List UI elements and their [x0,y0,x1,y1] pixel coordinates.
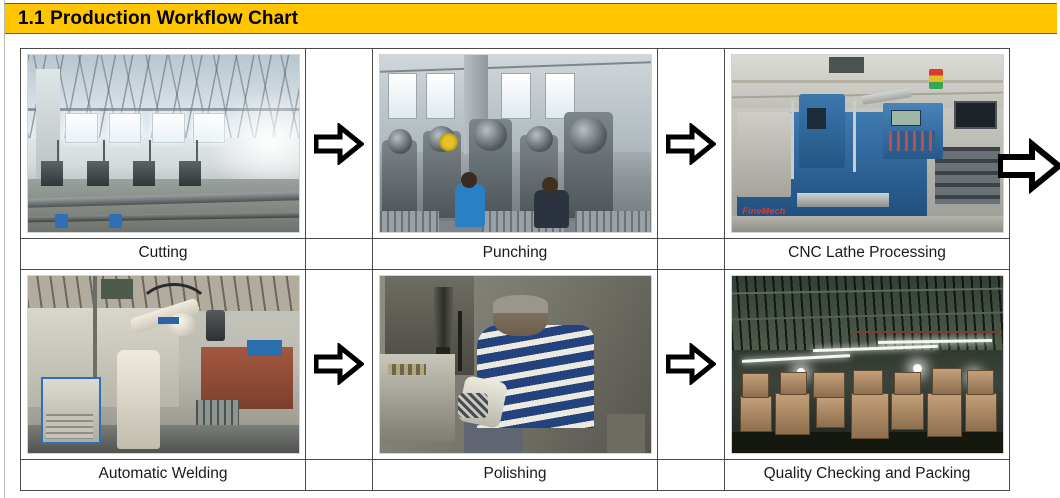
caption-spacer-1 [306,239,373,270]
step-caption-cell-cutting: Cutting [21,239,306,270]
section-header-band: 1.1 Production Workflow Chart [5,3,1057,34]
step-caption-cell-polishing: Polishing [373,459,658,490]
photo-quality-checking-and-packing [731,275,1004,454]
arrow-cell-cnc-to-next [998,138,1060,194]
step-image-cell-punching [373,49,658,239]
cnc-brand-logo: FineMech [742,202,802,216]
caption-spacer-4 [658,459,725,490]
step-caption-cell-welding: Automatic Welding [21,459,306,490]
arrow-cell-polishing-to-quality [658,269,725,459]
photo-cutting [27,54,300,233]
arrow-right-icon [666,343,716,385]
cnc-brand-text: FineMech [742,206,785,216]
arrow-cell-welding-to-polishing [306,269,373,459]
step-label-quality-checking-and-packing: Quality Checking and Packing [725,460,1009,490]
table-row-captions-bottom: Automatic Welding Polishing Quality Chec… [21,459,1010,490]
arrow-cell-cutting-to-punching [306,49,373,239]
step-caption-cell-punching: Punching [373,239,658,270]
step-caption-cell-quality: Quality Checking and Packing [725,459,1010,490]
step-label-punching: Punching [373,239,657,269]
caption-spacer-3 [306,459,373,490]
step-image-cell-cnc: FineMech [725,49,1010,239]
photo-punching [379,54,652,233]
step-image-cell-cutting [21,49,306,239]
step-label-polishing: Polishing [373,460,657,490]
production-workflow-page: 1.1 Production Workflow Chart [0,0,1060,498]
step-label-cnc-lathe-processing: CNC Lathe Processing [725,239,1009,269]
table-row-images-top: FineMech [21,49,1010,239]
photo-polishing [379,275,652,454]
step-label-cutting: Cutting [21,239,305,269]
table-row-images-bottom [21,269,1010,459]
arrow-right-icon [314,123,364,165]
step-caption-cell-cnc: CNC Lathe Processing [725,239,1010,270]
step-image-cell-quality [725,269,1010,459]
arrow-right-icon [998,138,1060,194]
arrow-right-icon [666,123,716,165]
caption-spacer-2 [658,239,725,270]
photo-cnc-lathe: FineMech [731,54,1004,233]
arrow-right-icon [314,343,364,385]
photo-automatic-welding [27,275,300,454]
table-row-captions-top: Cutting Punching CNC Lathe Processing [21,239,1010,270]
step-image-cell-polishing [373,269,658,459]
workflow-table: FineMech Cutting Punching CNC Lathe Proc… [20,48,1010,491]
page-left-rule [4,0,5,498]
step-image-cell-welding [21,269,306,459]
step-label-automatic-welding: Automatic Welding [21,460,305,490]
arrow-cell-punching-to-cnc [658,49,725,239]
page-title: 1.1 Production Workflow Chart [5,8,298,30]
